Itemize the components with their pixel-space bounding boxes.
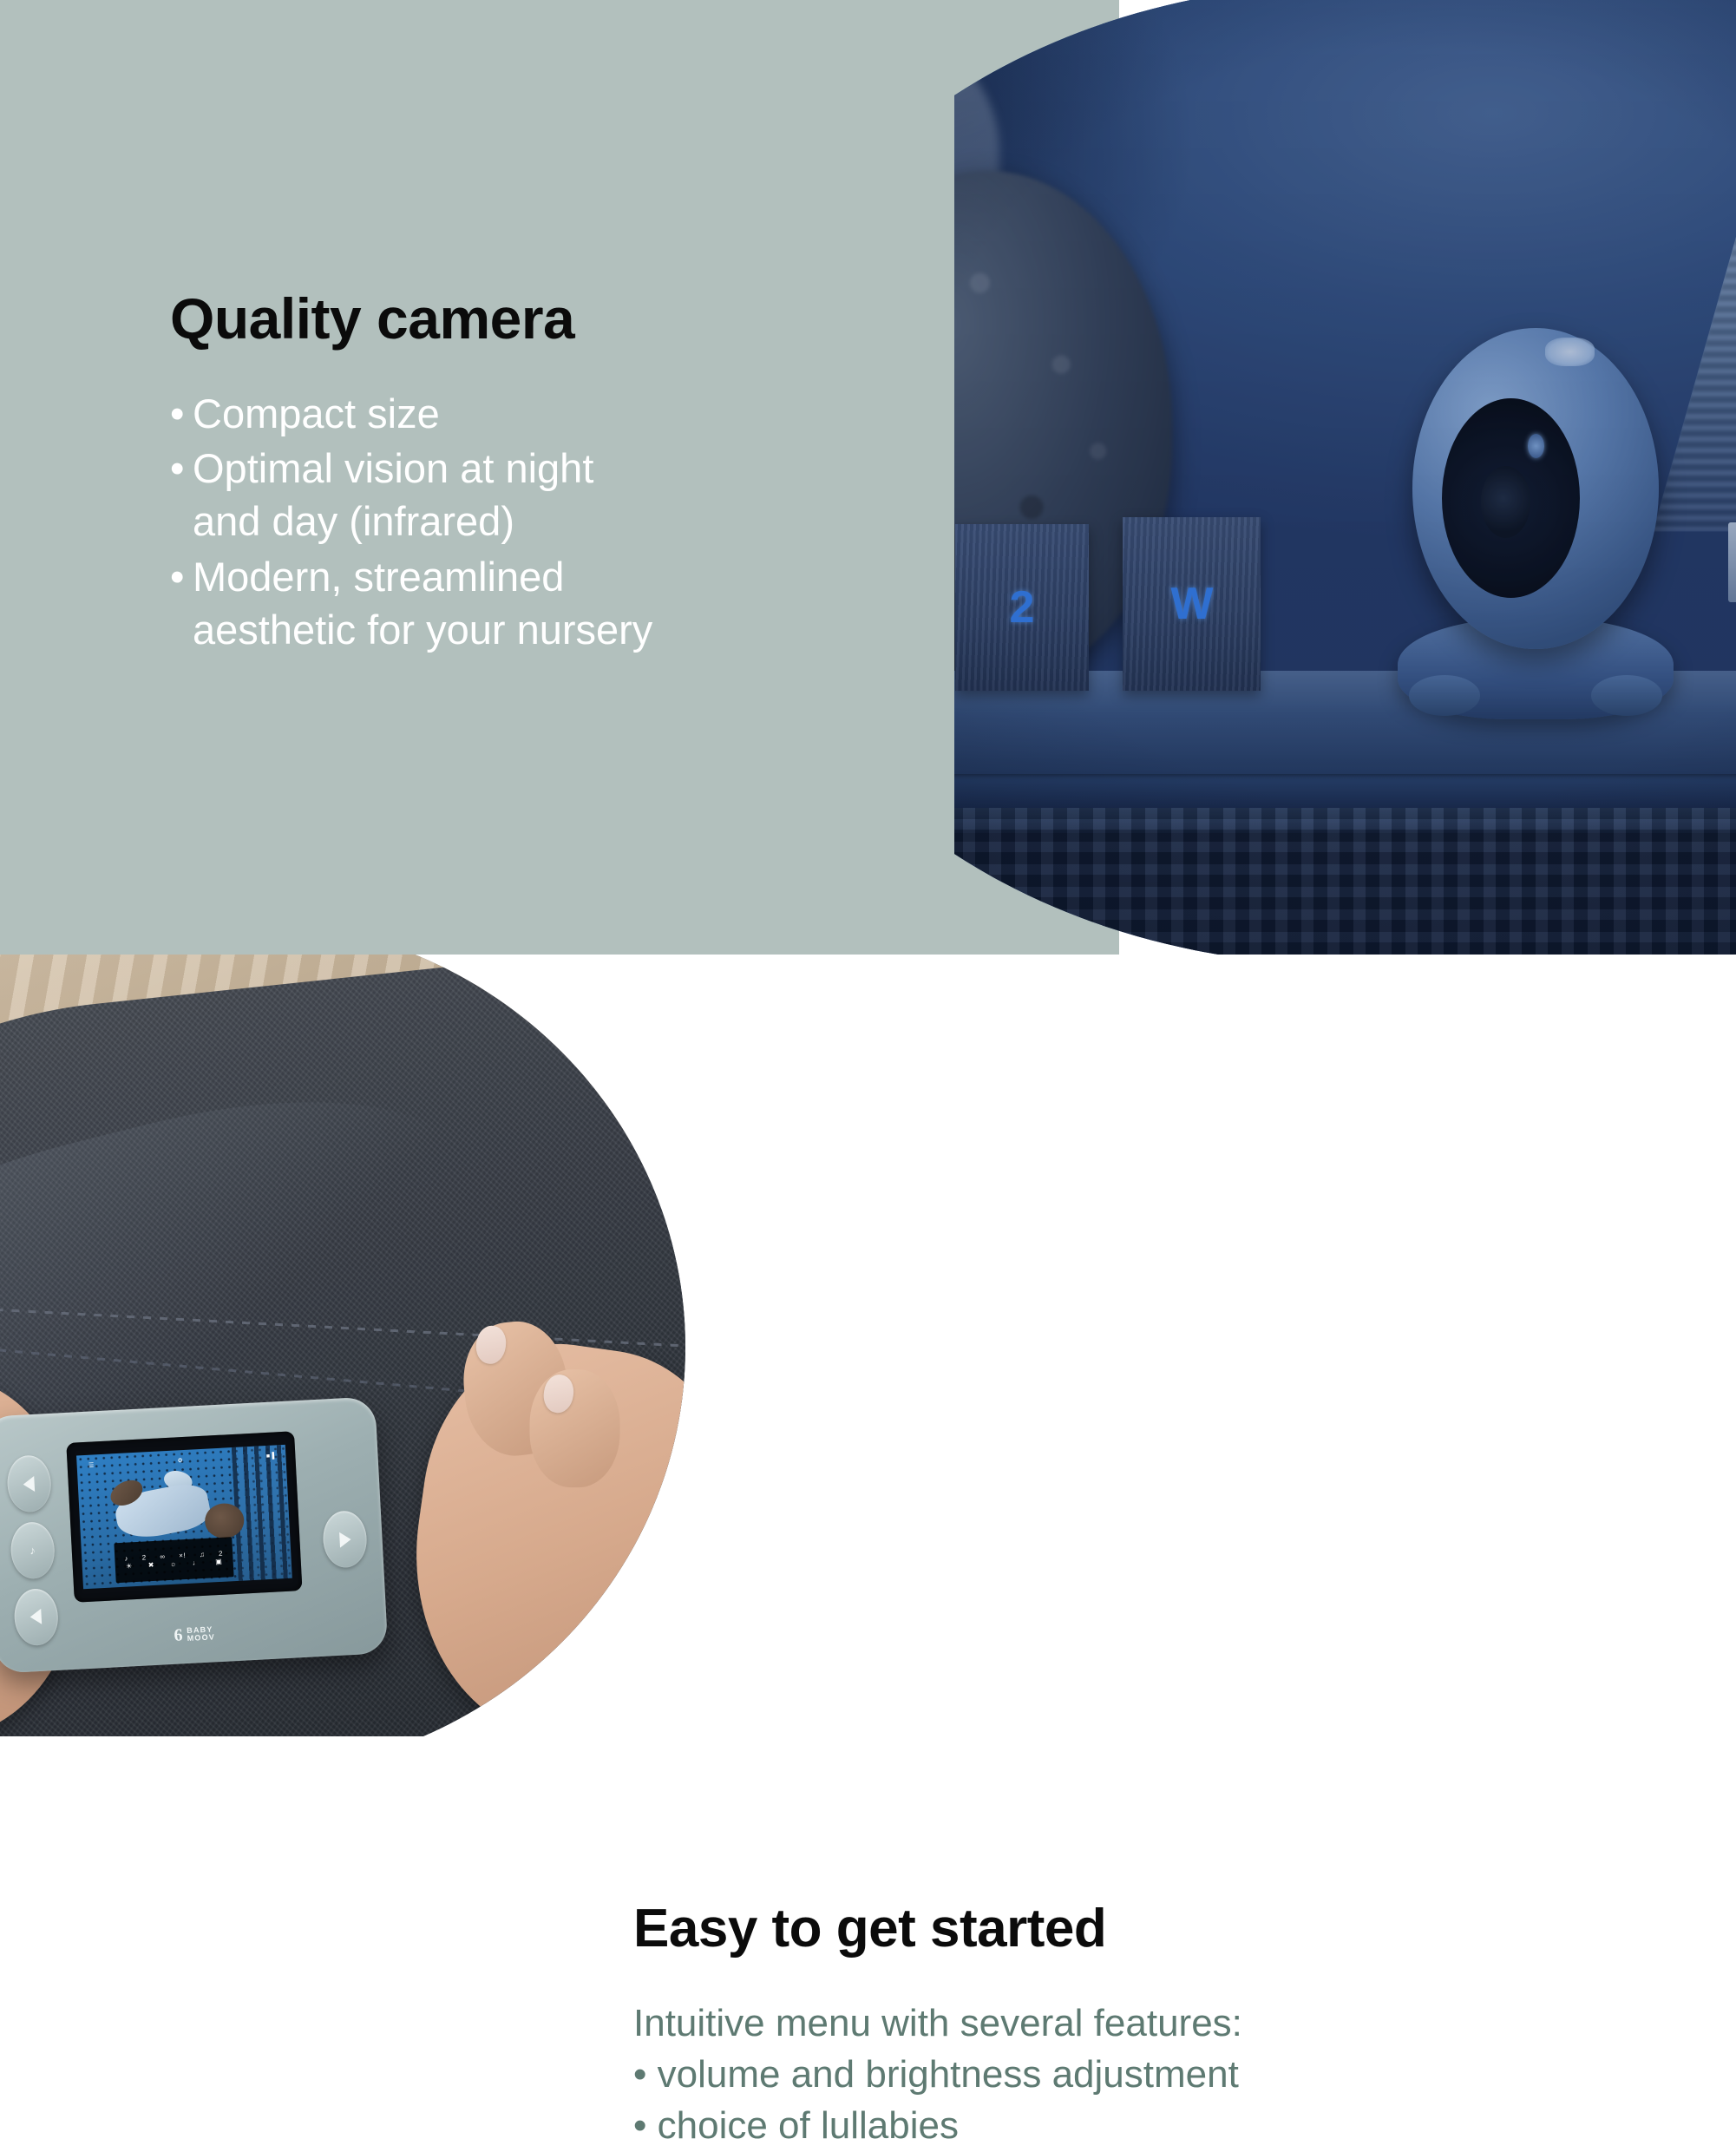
camera-foot-left bbox=[1409, 675, 1481, 716]
night-nursery-photo: E 2 W bbox=[954, 0, 1736, 955]
bottom-section: ♪ bbox=[0, 955, 1736, 1736]
bullet-marker: • bbox=[170, 442, 193, 548]
quality-camera-copy: Quality camera • Compact size • Optimal … bbox=[170, 289, 795, 658]
feature-bullet-item: • volume and brightness adjustment bbox=[633, 2050, 1700, 2101]
babymoov-mark-icon: 6 bbox=[174, 1627, 183, 1644]
quality-camera-bullet-list: • Compact size • Optimal vision at night… bbox=[170, 387, 795, 655]
menu-icon-link[interactable]: ∞ bbox=[160, 1553, 166, 1560]
bullet-marker: • bbox=[170, 550, 193, 656]
easy-to-get-started-body: Intuitive menu with several features: • … bbox=[633, 1998, 1700, 2152]
handheld-monitor-photo: ♪ bbox=[0, 955, 685, 1736]
menu-icon-lullaby[interactable]: ♫ bbox=[199, 1552, 205, 1558]
battery-icon: ■▐ bbox=[265, 1453, 274, 1460]
wooden-block-2: 2 bbox=[955, 524, 1088, 691]
bullet-item: • Optimal vision at night and day (infra… bbox=[170, 442, 795, 548]
camera-sphere bbox=[1412, 328, 1659, 650]
menu-icon-nightlight-off[interactable]: ✖ bbox=[147, 1562, 154, 1569]
tree-trunk bbox=[1728, 522, 1736, 602]
bullet-text-line1: Optimal vision at night bbox=[193, 445, 593, 491]
bullet-item: • Compact size bbox=[170, 387, 795, 440]
babymoov-wordmark: BABY MOOV bbox=[187, 1625, 215, 1644]
screen-menu-overlay[interactable]: ♪ 2 ∞ ×! ♫ 2 ☀ ✖ ☼ bbox=[114, 1538, 233, 1584]
bullet-text-line2: and day (infrared) bbox=[193, 498, 514, 544]
triangle-left-icon bbox=[23, 1476, 35, 1493]
camera-brand-logo-icon bbox=[1545, 338, 1595, 366]
camera-face bbox=[1442, 398, 1580, 598]
basket-weave-texture bbox=[954, 808, 1736, 955]
menu-icon-volume-level[interactable]: 2 bbox=[141, 1555, 146, 1562]
menu-icon-nightlight[interactable]: ☼ bbox=[169, 1561, 176, 1568]
bullet-marker: • bbox=[633, 2053, 646, 2096]
bullet-item: • Modern, streamlined aesthetic for your… bbox=[170, 550, 795, 656]
menu-icon-mute[interactable]: ×! bbox=[179, 1552, 186, 1559]
night-nursery-photo-frame: E 2 W bbox=[954, 0, 1736, 955]
music-note-icon: ♪ bbox=[29, 1545, 36, 1557]
brand-line-2: MOOV bbox=[187, 1633, 215, 1644]
infrared-sensor-icon bbox=[1528, 434, 1544, 458]
monitor-brand-logo: 6 BABY MOOV bbox=[127, 1611, 262, 1658]
bullet-text: volume and brightness adjustment bbox=[658, 2053, 1239, 2096]
handheld-monitor-photo-frame: ♪ bbox=[0, 955, 685, 1736]
top-section: E 2 W bbox=[0, 0, 1736, 955]
bullet-text: choice of lullabies bbox=[658, 2104, 959, 2147]
camera-foot-right bbox=[1591, 675, 1663, 716]
feature-bullet-item: • choice of lullabies bbox=[633, 2101, 1700, 2152]
menu-icon-music[interactable]: ♩ bbox=[192, 1559, 200, 1566]
baby-head bbox=[204, 1503, 245, 1539]
marketing-infographic: E 2 W bbox=[0, 0, 1736, 1736]
menu-icon-settings[interactable]: ▣ bbox=[215, 1558, 222, 1565]
knit-tree-decoration bbox=[1653, 161, 1736, 602]
features-intro: Intuitive menu with several features: bbox=[633, 1998, 1700, 2050]
bullet-text: Optimal vision at night and day (infrare… bbox=[193, 442, 795, 548]
tree-body bbox=[1653, 161, 1736, 531]
bullet-text: Modern, streamlined aesthetic for your n… bbox=[193, 550, 795, 656]
triangle-left-icon bbox=[29, 1610, 42, 1626]
baby-monitor-camera bbox=[1412, 328, 1659, 720]
tree-knit-texture bbox=[1653, 161, 1736, 531]
block-letter: 2 bbox=[1009, 581, 1034, 633]
bullet-text-line2: aesthetic for your nursery bbox=[193, 607, 652, 653]
bullet-text-line1: Modern, streamlined bbox=[193, 554, 564, 600]
quality-camera-heading: Quality camera bbox=[170, 289, 795, 349]
bullet-marker: • bbox=[170, 387, 193, 440]
camera-feed: ☰ ⚙ ■▐ ♪ 2 ∞ ×! ♫ bbox=[75, 1445, 292, 1589]
bullet-marker: • bbox=[633, 2104, 646, 2147]
block-letter: W bbox=[1170, 578, 1213, 630]
easy-to-get-started-copy: Easy to get started Intuitive menu with … bbox=[633, 1900, 1700, 2152]
camera-lens-icon bbox=[1481, 466, 1530, 538]
monitor-screen: ☰ ⚙ ■▐ ♪ 2 ∞ ×! ♫ bbox=[66, 1432, 302, 1603]
wooden-block-w: W bbox=[1123, 517, 1261, 691]
bullet-text: Compact size bbox=[193, 387, 795, 440]
signal-icon: ☰ bbox=[88, 1463, 94, 1469]
temperature-icon: ⚙ bbox=[177, 1458, 183, 1464]
wooden-blocks-group: E 2 W bbox=[954, 524, 1271, 691]
woven-basket bbox=[954, 808, 1736, 955]
menu-icon-brightness[interactable]: ☀ bbox=[126, 1563, 133, 1570]
finger bbox=[530, 1369, 620, 1487]
triangle-right-icon bbox=[338, 1532, 350, 1548]
easy-to-get-started-heading: Easy to get started bbox=[633, 1900, 1700, 1957]
parent-unit-monitor: ♪ bbox=[0, 1397, 388, 1674]
